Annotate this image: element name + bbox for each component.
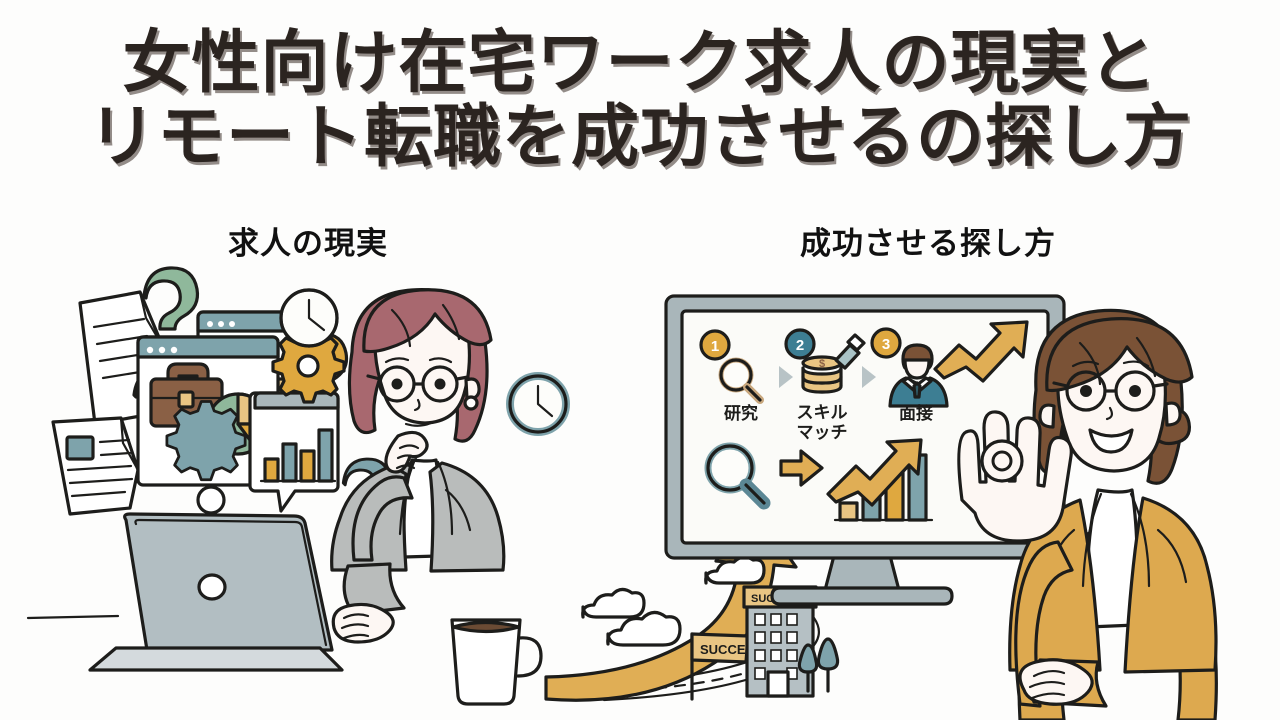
step-1-label: 研究 xyxy=(724,403,758,423)
step-1-number: 1 xyxy=(711,338,719,355)
step-2-number: 2 xyxy=(796,337,804,354)
document-lined-icon xyxy=(53,418,138,514)
illustration-layer: .ol{stroke:#1d1d1b;stroke-width:3.2;stro… xyxy=(0,0,1280,720)
speech-bubble-icon xyxy=(250,393,338,511)
step-2-label-line1: スキル xyxy=(797,403,848,422)
poster-canvas: 女性向け在宅ワーク求人の現実と リモート転職を成功させるの探し方 求人の現実 成… xyxy=(0,0,1280,720)
laptop-icon xyxy=(28,514,342,670)
clock-icon xyxy=(281,290,337,346)
step-3-label: 面接 xyxy=(899,403,933,423)
cloud-icon xyxy=(583,589,644,617)
gear-icon xyxy=(167,401,245,513)
svg-text:$: $ xyxy=(819,358,825,370)
clock-icon xyxy=(510,376,566,432)
coffee-mug-icon xyxy=(452,620,541,704)
step-2-label-line2: マッチ xyxy=(797,423,848,442)
step-3-number: 3 xyxy=(882,336,890,353)
